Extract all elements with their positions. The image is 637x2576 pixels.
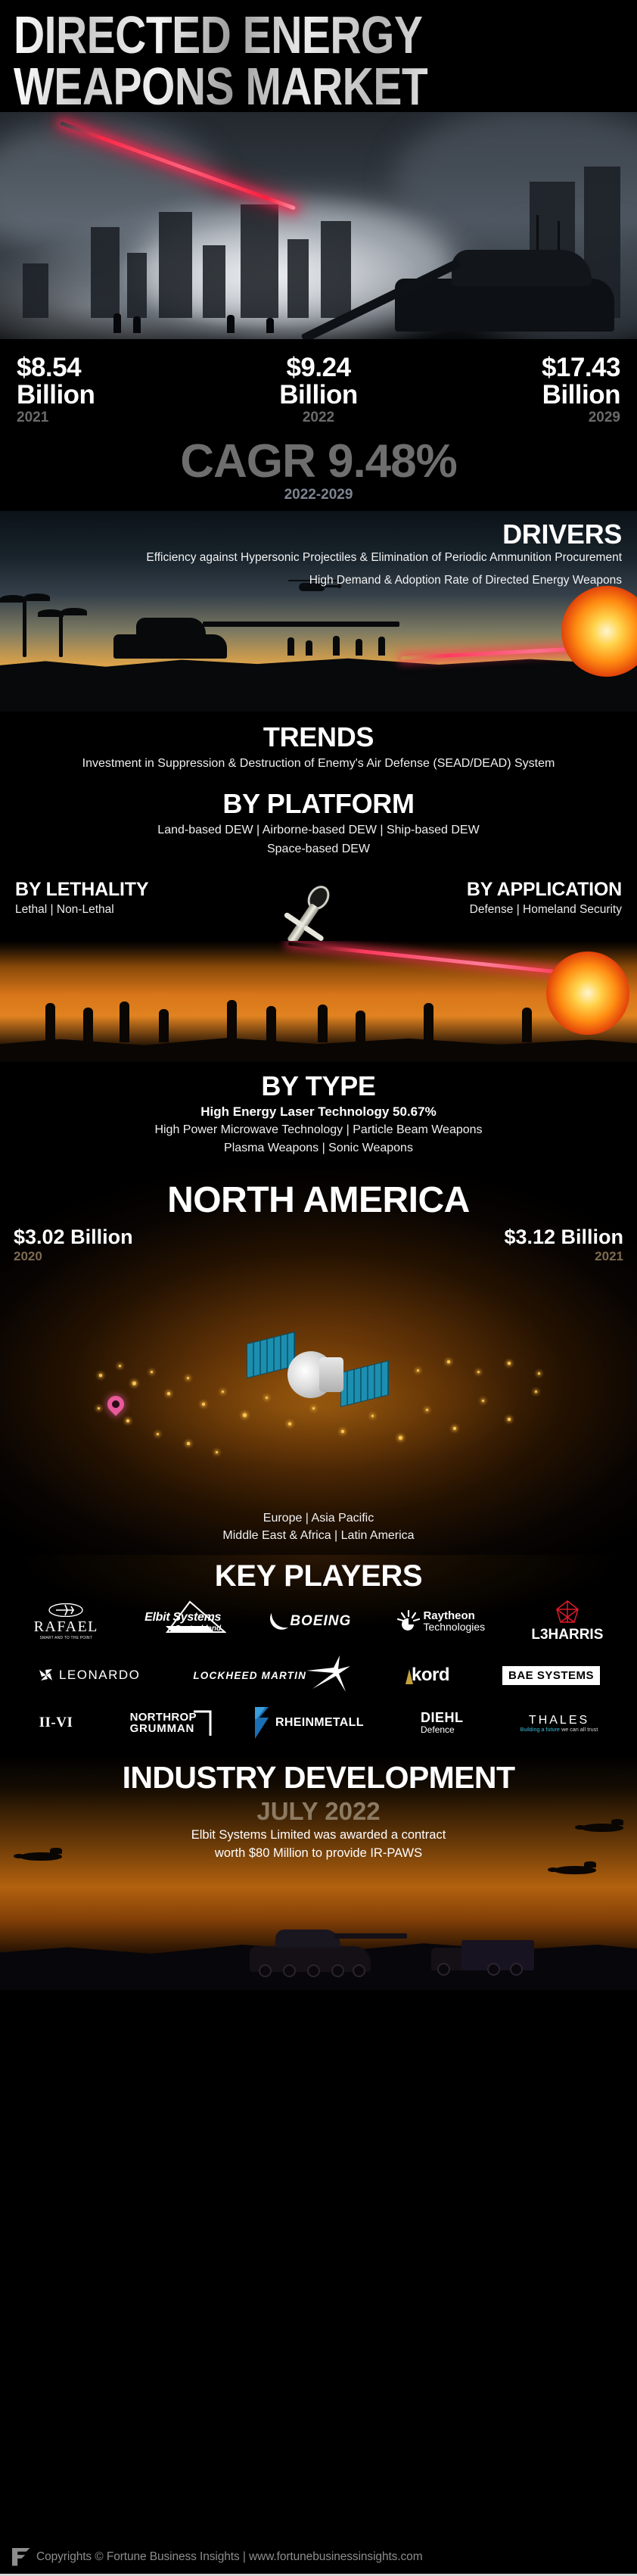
cagr-headline: CAGR 9.48% xyxy=(0,438,637,485)
tank-silhouette xyxy=(380,218,629,339)
by-type-line-2: Plasma Weapons | Sonic Weapons xyxy=(0,1140,637,1157)
logo-row-1: RAFAEL SMART AND TO THE POINT Elbit Syst… xyxy=(0,1593,637,1649)
palm-tree-silhouette xyxy=(59,613,63,657)
industry-development-section: INDUSTRY DEVELOPMENT JULY 2022 Elbit Sys… xyxy=(0,1755,637,1990)
drivers-text: DRIVERS Efficiency against Hypersonic Pr… xyxy=(0,511,637,589)
map-dot xyxy=(399,1436,402,1440)
tank-turret xyxy=(275,1930,340,1948)
logo-name: DIEHL xyxy=(421,1711,464,1724)
lockheed-star-icon xyxy=(305,1656,352,1695)
stat-unit: Billion xyxy=(419,382,620,409)
soldier-silhouette xyxy=(227,315,235,333)
map-dot xyxy=(99,1374,102,1377)
logo-ii-vi: II-VI xyxy=(39,1715,73,1731)
industry-development-line-2: worth $80 Million to provide IR-PAWS xyxy=(0,1846,637,1862)
logo-tagline: Technologies xyxy=(423,1621,485,1633)
map-dot xyxy=(453,1427,456,1430)
tank-antenna xyxy=(558,221,560,250)
leonardo-star-icon xyxy=(37,1666,55,1684)
stat-value: $8.54 xyxy=(17,354,218,382)
tank-turret xyxy=(136,618,206,636)
by-lethality-items: Lethal | Non-Lethal xyxy=(15,903,148,917)
logo-tagline: Building a future we can all trust xyxy=(520,1727,598,1733)
map-dot xyxy=(341,1430,344,1433)
map-dot xyxy=(426,1409,428,1411)
palm-trunk xyxy=(59,613,63,657)
aircraft-silhouette xyxy=(554,1866,596,1874)
by-platform-section: BY PLATFORM Land-based DEW | Airborne-ba… xyxy=(0,781,637,868)
thales-tagline-a: Building a future xyxy=(520,1727,560,1733)
map-dot xyxy=(417,1369,419,1372)
laser-beam xyxy=(288,942,589,977)
palm-frond xyxy=(24,593,50,601)
map-dot xyxy=(535,1391,537,1393)
palm-frond xyxy=(38,609,64,617)
soldier-silhouette xyxy=(159,1009,169,1042)
ruined-building xyxy=(127,253,147,318)
map-dot xyxy=(538,1372,540,1375)
map-dot xyxy=(288,1422,291,1425)
by-type-title: BY TYPE xyxy=(0,1071,637,1101)
by-platform-line-1: Land-based DEW | Airborne-based DEW | Sh… xyxy=(0,822,637,839)
satellite-solar-panel xyxy=(340,1360,389,1407)
na-stat-year: 2020 xyxy=(14,1249,318,1264)
map-dot xyxy=(126,1419,129,1422)
trends-title: TRENDS xyxy=(0,722,637,752)
soldier-silhouette xyxy=(356,639,362,656)
logo-name: NORTHROP xyxy=(130,1712,197,1723)
tank-silhouette xyxy=(113,634,227,659)
logo-tagline: Defence xyxy=(421,1724,455,1735)
na-stat-2021: $3.12 Billion 2021 xyxy=(318,1226,623,1264)
soldier-silhouette xyxy=(113,313,121,333)
driver-item: Efficiency against Hypersonic Projectile… xyxy=(0,550,622,565)
soldier-silhouette xyxy=(287,637,294,656)
market-stats-row: $8.54 Billion 2021 $9.24 Billion 2022 $1… xyxy=(0,339,637,433)
tank-barrel xyxy=(203,621,399,627)
tank-barrel xyxy=(334,1933,407,1939)
logo-leonardo: LEONARDO xyxy=(37,1666,140,1684)
ruined-building xyxy=(241,204,278,318)
logo-name: BOEING xyxy=(290,1613,351,1630)
regions-line-1: Europe | Asia Pacific xyxy=(0,1510,637,1527)
north-america-section: NORTH AMERICA $3.02 Billion 2020 $3.12 B… xyxy=(0,1169,637,1555)
map-dot xyxy=(482,1400,484,1402)
title-line-2: WEAPONS MARKET xyxy=(14,62,623,112)
drivers-title: DRIVERS xyxy=(0,520,622,549)
rafael-plane-icon xyxy=(48,1603,83,1617)
logo-tagline: SMART AND TO THE POINT xyxy=(39,1636,92,1640)
map-dot xyxy=(222,1391,224,1393)
driver-item: High Demand & Adoption Rate of Directed … xyxy=(0,573,622,588)
lethality-application-section: BY LETHALITY Lethal | Non-Lethal BY APPL… xyxy=(0,868,637,941)
hero-battlefield-image xyxy=(0,112,637,339)
by-lethality-block: BY LETHALITY Lethal | Non-Lethal xyxy=(15,879,148,917)
map-dot xyxy=(119,1365,121,1367)
thales-tagline-b: we can all trust xyxy=(560,1727,598,1733)
satellite-body xyxy=(319,1357,343,1392)
title-line-1: DIRECTED ENERGY xyxy=(14,11,623,61)
soldier-silhouette xyxy=(522,1008,532,1042)
north-america-title: NORTH AMERICA xyxy=(0,1169,637,1221)
by-type-section: BY TYPE High Energy Laser Technology 50.… xyxy=(0,1062,637,1169)
elbit-triangle-icon xyxy=(161,1600,226,1635)
soldier-silhouette xyxy=(333,636,340,656)
logo-raytheon: Raytheon Technologies xyxy=(397,1609,485,1634)
soldier-silhouette xyxy=(424,1003,433,1042)
map-dot xyxy=(151,1371,153,1373)
infographic-page: DIRECTED ENERGY WEAPONS MARKET xyxy=(0,0,637,2576)
na-stat-value: $3.12 Billion xyxy=(318,1226,623,1249)
palm-trunk xyxy=(23,600,26,657)
by-type-line-1: High Power Microwave Technology | Partic… xyxy=(0,1122,637,1138)
regions-line-2: Middle East & Africa | Latin America xyxy=(0,1528,637,1544)
map-dot xyxy=(508,1418,511,1421)
stat-unit: Billion xyxy=(17,382,218,409)
stat-unit: Billion xyxy=(218,382,419,409)
key-players-section: KEY PLAYERS RAFAEL SMART AND TO THE POIN… xyxy=(0,1555,637,1755)
logo-lockheed-martin: LOCKHEED MARTIN xyxy=(193,1656,352,1695)
logo-rafael: RAFAEL SMART AND TO THE POINT xyxy=(34,1603,98,1640)
stat-year: 2022 xyxy=(218,410,419,426)
trends-body: Investment in Suppression & Destruction … xyxy=(0,755,637,772)
logo-name: LOCKHEED MARTIN xyxy=(193,1670,306,1681)
map-dot xyxy=(157,1433,159,1435)
drivers-section: DRIVERS Efficiency against Hypersonic Pr… xyxy=(0,511,637,712)
northrop-bracket-icon xyxy=(194,1710,213,1737)
weapon-fin xyxy=(303,925,325,942)
trends-section: TRENDS Investment in Suppression & Destr… xyxy=(0,712,637,781)
soldier-silhouette xyxy=(120,1001,129,1042)
l3harris-gem-icon xyxy=(555,1599,580,1625)
cagr-block: CAGR 9.48% 2022-2029 xyxy=(0,434,637,511)
logo-name: II-VI xyxy=(39,1715,73,1731)
tank-turret xyxy=(452,250,592,286)
ruined-building xyxy=(159,212,192,318)
na-stat-year: 2021 xyxy=(318,1249,623,1264)
by-application-block: BY APPLICATION Defense | Homeland Securi… xyxy=(467,879,622,917)
satellite-graphic xyxy=(247,1332,390,1422)
logo-row-2: LEONARDO LOCKHEED MARTIN kord BAE SYSTEM… xyxy=(0,1649,637,1701)
palm-frond xyxy=(61,608,87,615)
stat-2029: $17.43 Billion 2029 xyxy=(419,354,620,425)
logo-elbit-systems: Elbit Systems Deutschland xyxy=(144,1611,221,1633)
logo-rheinmetall: RHEINMETALL xyxy=(253,1707,364,1739)
logo-name: kord xyxy=(412,1665,449,1686)
by-platform-title: BY PLATFORM xyxy=(0,789,637,819)
soldier-silhouette xyxy=(83,1008,93,1042)
na-stat-value: $3.02 Billion xyxy=(14,1226,318,1249)
explosion-glow xyxy=(546,952,629,1035)
map-dot xyxy=(447,1360,450,1363)
by-type-leading: High Energy Laser Technology 50.67% xyxy=(0,1104,637,1120)
map-dot xyxy=(508,1362,511,1365)
logo-name: THALES xyxy=(529,1714,589,1727)
copyright-text: Copyrights © Fortune Business Insights |… xyxy=(36,2550,423,2564)
soldier-silhouette xyxy=(378,637,385,656)
map-dot xyxy=(132,1381,136,1385)
key-players-title: KEY PLAYERS xyxy=(0,1559,637,1593)
cagr-period: 2022-2029 xyxy=(0,487,637,503)
dew-weapon-icon xyxy=(303,882,334,914)
north-america-stats: $3.02 Billion 2020 $3.12 Billion 2021 xyxy=(0,1221,637,1264)
stat-value: $17.43 xyxy=(419,354,620,382)
logo-name: BAE SYSTEMS xyxy=(502,1666,600,1685)
regions-block: Europe | Asia Pacific Middle East & Afri… xyxy=(0,1510,637,1544)
logo-name: LEONARDO xyxy=(59,1668,140,1683)
industry-development-title: INDUSTRY DEVELOPMENT xyxy=(0,1760,637,1796)
rheinmetall-mark-icon xyxy=(253,1707,272,1739)
ruined-building xyxy=(321,221,351,318)
logo-diehl: DIEHL Defence xyxy=(421,1711,464,1735)
soldier-silhouette xyxy=(318,1005,328,1042)
logo-tagline: GRUMMAN xyxy=(130,1723,195,1734)
map-dot xyxy=(187,1442,190,1445)
by-platform-line-2: Space-based DEW xyxy=(0,841,637,858)
stat-2021: $8.54 Billion 2021 xyxy=(17,354,218,425)
soldier-silhouette xyxy=(266,318,274,333)
industry-development-line-1: Elbit Systems Limited was awarded a cont… xyxy=(0,1827,637,1844)
tank-hull xyxy=(113,634,227,659)
logo-boeing: BOEING xyxy=(267,1610,351,1633)
raytheon-burst-icon xyxy=(397,1609,420,1634)
ruined-building xyxy=(287,239,309,318)
soldier-silhouette xyxy=(356,1011,365,1042)
ruined-building xyxy=(203,245,225,318)
soldier-silhouette xyxy=(45,1003,55,1042)
military-truck-silhouette xyxy=(431,1948,463,1970)
soldier-silhouette xyxy=(133,316,141,333)
soldier-silhouette xyxy=(306,640,312,656)
soldier-silhouette xyxy=(266,1006,276,1042)
map-dot xyxy=(187,1377,189,1379)
map-dot xyxy=(167,1392,170,1395)
footer: Copyrights © Fortune Business Insights |… xyxy=(0,2540,637,2576)
logo-northrop-grumman: NORTHROP GRUMMAN xyxy=(130,1712,197,1734)
by-lethality-title: BY LETHALITY xyxy=(15,879,148,901)
tank-silhouette xyxy=(250,1946,371,1972)
page-title: DIRECTED ENERGY WEAPONS MARKET xyxy=(0,0,637,112)
logo-name: Raytheon xyxy=(423,1610,474,1621)
stat-year: 2021 xyxy=(17,410,218,426)
map-dot xyxy=(202,1403,205,1406)
map-dot xyxy=(98,1407,100,1409)
industry-development-text: INDUSTRY DEVELOPMENT JULY 2022 Elbit Sys… xyxy=(0,1755,637,1862)
stat-2022: $9.24 Billion 2022 xyxy=(218,354,419,425)
map-dot xyxy=(216,1451,218,1453)
ruined-building xyxy=(23,263,48,318)
logo-name: RAFAEL xyxy=(34,1618,98,1636)
fortune-business-insights-logo-icon xyxy=(12,2548,30,2566)
stat-value: $9.24 xyxy=(218,354,419,382)
industry-development-date: JULY 2022 xyxy=(0,1797,637,1826)
by-application-title: BY APPLICATION xyxy=(467,879,622,901)
stat-year: 2029 xyxy=(419,410,620,426)
boeing-swirl-icon xyxy=(267,1610,290,1633)
tank-hull xyxy=(395,279,614,332)
logo-thales: THALES Building a future we can all trus… xyxy=(520,1714,598,1733)
logo-name: L3HARRIS xyxy=(531,1627,603,1643)
ruined-building xyxy=(91,227,120,318)
map-dot xyxy=(477,1371,480,1373)
logo-row-3: II-VI NORTHROP GRUMMAN RHEINMETALL DIEHL… xyxy=(0,1701,637,1745)
tank-antenna xyxy=(536,215,539,250)
logo-l3harris: L3HARRIS xyxy=(531,1599,603,1643)
aircraft-tail xyxy=(584,1861,596,1867)
logo-name: RHEINMETALL xyxy=(275,1716,364,1730)
palm-frond xyxy=(0,595,26,603)
logo-bae-systems: BAE SYSTEMS xyxy=(502,1666,600,1685)
palm-tree-silhouette xyxy=(23,600,26,657)
logo-kord: kord xyxy=(405,1665,449,1686)
by-application-items: Defense | Homeland Security xyxy=(467,903,622,917)
na-stat-2020: $3.02 Billion 2020 xyxy=(14,1226,318,1264)
soldiers-battlefield-image xyxy=(0,941,637,1062)
soldier-silhouette xyxy=(227,1000,237,1042)
